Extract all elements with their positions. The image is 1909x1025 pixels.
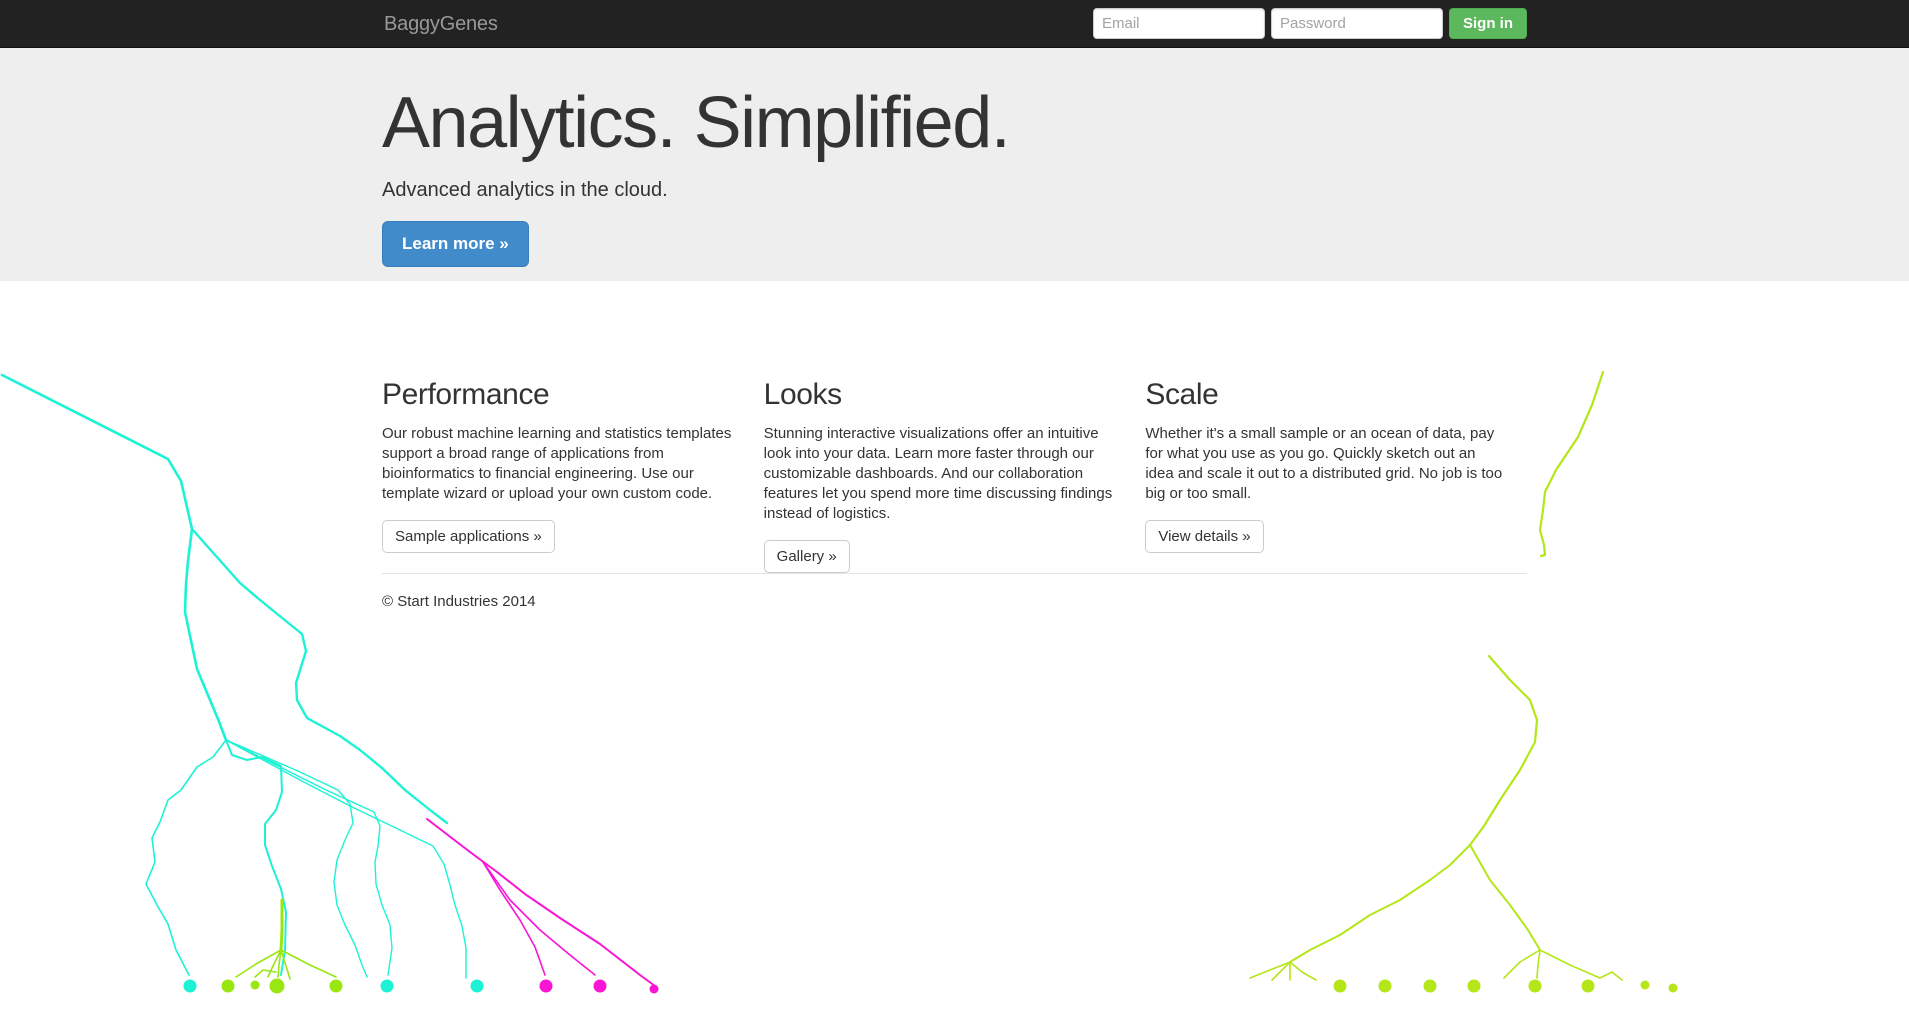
tree-node-green [1468,980,1481,993]
feature-body: Our robust machine learning and statisti… [382,424,740,504]
footer-copyright: © Start Industries 2014 [382,592,1527,612]
page-root: BaggyGenes Sign in Analytics. Simplified… [0,0,1909,1025]
tree-node-green [1379,980,1392,993]
hero-subtitle: Advanced analytics in the cloud. [382,176,1527,204]
page-footer: © Start Industries 2014 [382,573,1527,612]
tree-node-cyan [184,980,197,993]
tree-left-branch-b [226,740,286,975]
tree-node-green [222,980,235,993]
tree-right-twig-l4 [1290,962,1316,980]
tree-left-magenta-branch-1 [483,862,545,975]
hero-jumbotron: Analytics. Simplified. Advanced analytic… [0,48,1909,281]
signin-form: Sign in [1093,0,1527,48]
tree-node-magenta [594,980,607,993]
tree-left-green-twig-6 [255,970,276,977]
tree-node-magenta [540,980,553,993]
marketing-section: Performance Our robust machine learning … [0,281,1909,612]
tree-left-branch-c [226,740,367,977]
tree-node-green [1529,980,1542,993]
tree-left-green-twig-1 [236,950,281,977]
footer-divider [382,573,1527,574]
feature-heading: Looks [764,378,1146,411]
tree-right-lower-trunk [1470,656,1537,845]
tree-left-magenta-main [427,819,655,986]
tree-node-green [1582,980,1595,993]
view-details-button[interactable]: View details » [1145,520,1263,553]
tree-left-branch-a [146,740,226,975]
tree-node-green [251,981,260,990]
feature-heading: Performance [382,378,764,411]
brand-logo[interactable]: BaggyGenes [382,14,498,34]
tree-node-green [1334,980,1347,993]
tree-left-branch-d [226,740,392,975]
top-navbar: BaggyGenes Sign in [0,0,1909,48]
marketing-row: Performance Our robust machine learning … [382,378,1527,573]
feature-heading: Scale [1145,378,1527,411]
tree-right-twig-l1 [1250,962,1290,978]
feature-column-looks: Looks Stunning interactive visualization… [764,378,1146,573]
password-input[interactable] [1271,8,1443,39]
feature-column-scale: Scale Whether it's a small sample or an … [1145,378,1527,573]
tree-left-green-twig-3 [278,950,281,977]
tree-right-twig-r3 [1540,950,1600,978]
tree-right-branch-left [1290,845,1470,962]
sign-in-button[interactable]: Sign in [1449,8,1527,39]
tree-node-green [1669,984,1678,993]
tree-left-branch-e [226,740,466,978]
tree-node-green [1641,981,1650,990]
tree-node-cyan [471,980,484,993]
feature-body: Whether it's a small sample or an ocean … [1145,424,1503,504]
gallery-button[interactable]: Gallery » [764,540,850,573]
hero-title: Analytics. Simplified. [382,50,1527,162]
email-input[interactable] [1093,8,1265,39]
tree-node-cyan [381,980,394,993]
tree-right-lower [1250,656,1678,993]
tree-node-green [1424,980,1437,993]
tree-left-green-stem [281,900,282,950]
learn-more-button[interactable]: Learn more » [382,221,529,267]
tree-left-green-twig-2 [268,950,281,977]
tree-left-magenta-branch-2 [483,862,595,975]
tree-right-twig-r1 [1504,950,1540,978]
feature-body: Stunning interactive visualizations offe… [764,424,1122,524]
feature-column-performance: Performance Our robust machine learning … [382,378,764,573]
sample-applications-button[interactable]: Sample applications » [382,520,555,553]
tree-left-green-twig-4 [281,950,290,979]
tree-right-twig-r4 [1600,972,1622,980]
tree-right-twig-l2 [1272,962,1290,980]
tree-right-branch-right [1470,845,1540,950]
tree-left-green-twig-5 [281,950,336,977]
tree-right-twig-r2 [1537,950,1540,978]
tree-node-green [330,980,343,993]
tree-node-magenta [650,985,659,994]
tree-node-green [270,979,285,994]
